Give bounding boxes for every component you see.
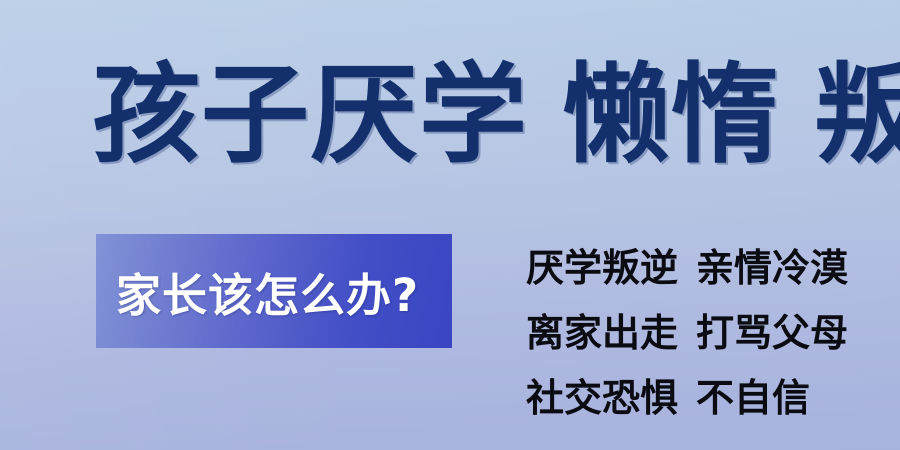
symptom-row-2: 离家出走打骂父母 [526, 301, 886, 366]
page-title: 孩子厌学懒惰叛逆 [92, 56, 852, 186]
cta-banner-label: 家长该怎么办? [116, 234, 438, 348]
symptom-list: 厌学叛逆亲情冷漠 离家出走打骂父母 社交恐惧不自信 [526, 236, 886, 431]
headline-part-1: 孩子厌学 [92, 56, 528, 176]
symptom-row-3: 社交恐惧不自信 [526, 366, 886, 431]
headline-part-2: 懒惰 [562, 56, 780, 176]
cta-banner[interactable]: 家长该怎么办? [96, 234, 452, 348]
symptom-item-2-left: 离家出走 [526, 311, 678, 355]
symptom-item-1-left: 厌学叛逆 [526, 246, 678, 290]
symptom-item-2-right: 打骂父母 [696, 311, 848, 355]
poster-canvas: 孩子厌学懒惰叛逆 家长该怎么办? 厌学叛逆亲情冷漠 离家出走打骂父母 社交恐惧不… [0, 0, 900, 450]
symptom-item-3-right: 不自信 [696, 376, 810, 420]
symptom-item-1-right: 亲情冷漠 [696, 246, 848, 290]
symptom-row-1: 厌学叛逆亲情冷漠 [526, 236, 886, 301]
symptom-item-3-left: 社交恐惧 [526, 376, 678, 420]
headline-part-3: 叛逆 [814, 56, 900, 176]
